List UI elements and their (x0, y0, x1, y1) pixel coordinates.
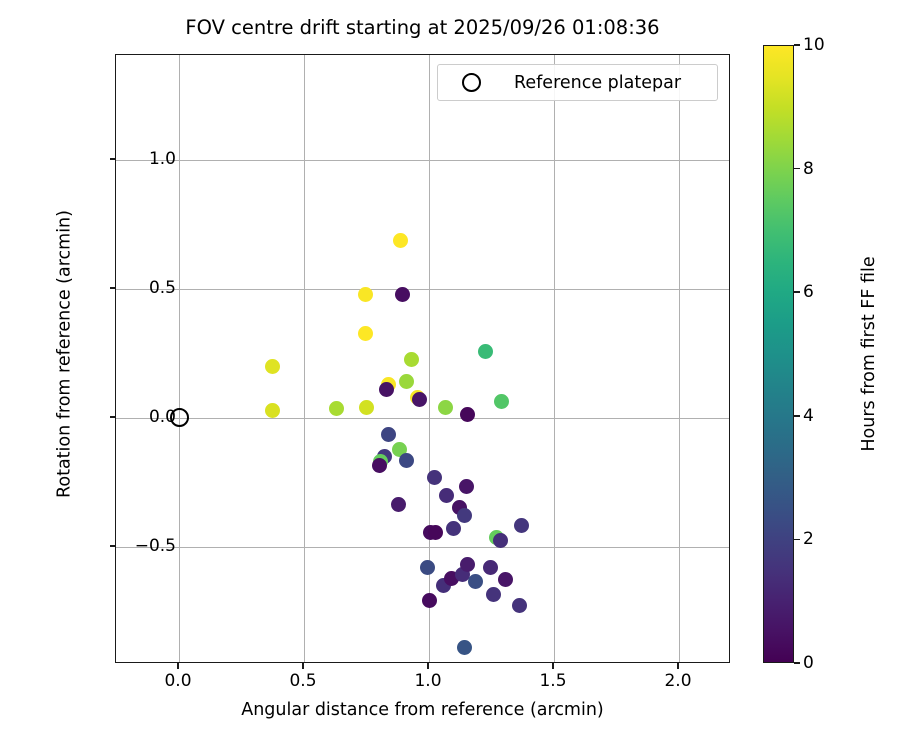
scatter-point (446, 521, 461, 536)
y-axis-tick-label: −0.5 (135, 536, 176, 556)
scatter-point (329, 401, 344, 416)
y-axis-tick-label: 0.0 (149, 407, 176, 427)
colorbar-label: Hours from first FF file (859, 45, 879, 663)
scatter-point (428, 525, 443, 540)
x-axis-tick (302, 663, 304, 669)
y-axis-tick (110, 416, 116, 418)
scatter-point (439, 488, 454, 503)
x-axis-tick (677, 663, 679, 669)
colorbar-tick-label: 8 (803, 159, 814, 179)
matplotlib-figure: FOV centre drift starting at 2025/09/26 … (0, 0, 900, 750)
scatter-point (498, 572, 513, 587)
y-axis-tick-label: 1.0 (149, 149, 176, 169)
gridline-vertical (554, 55, 555, 662)
colorbar-tick-label: 2 (803, 529, 814, 549)
scatter-point (359, 400, 374, 415)
colorbar-tick (794, 539, 800, 541)
gridline-horizontal (116, 160, 729, 161)
legend: Reference platepar (437, 64, 718, 101)
colorbar-tick (794, 291, 800, 293)
scatter-point (486, 587, 501, 602)
scatter-point (493, 533, 508, 548)
scatter-point (372, 458, 387, 473)
x-axis-tick-label: 0.5 (289, 671, 316, 691)
scatter-point (514, 518, 529, 533)
scatter-point (483, 560, 498, 575)
scatter-point (395, 287, 410, 302)
scatter-point (399, 453, 414, 468)
scatter-point (393, 233, 408, 248)
scatter-point (512, 598, 527, 613)
scatter-point (404, 352, 419, 367)
x-axis-label: Angular distance from reference (arcmin) (115, 700, 730, 720)
scatter-point (381, 427, 396, 442)
colorbar (763, 45, 794, 663)
scatter-point (427, 470, 442, 485)
x-axis-tick (427, 663, 429, 669)
scatter-point (457, 508, 472, 523)
gridline-vertical (179, 55, 180, 662)
gridline-vertical (679, 55, 680, 662)
x-axis-tick-label: 1.0 (414, 671, 441, 691)
scatter-point (265, 359, 280, 374)
colorbar-tick-label: 10 (803, 35, 825, 55)
colorbar-tick-label: 4 (803, 406, 814, 426)
colorbar-tick (794, 415, 800, 417)
colorbar-tick-label: 0 (803, 653, 814, 673)
gridline-horizontal (116, 418, 729, 419)
colorbar-tick (794, 168, 800, 170)
colorbar-tick (794, 662, 800, 664)
x-axis-tick-label: 2.0 (664, 671, 691, 691)
x-axis-tick (552, 663, 554, 669)
scatter-point (399, 374, 414, 389)
plot-area (115, 54, 730, 663)
scatter-point (438, 400, 453, 415)
reference-platepar-marker-icon (462, 73, 481, 92)
scatter-point (494, 394, 509, 409)
y-axis-tick-label: 0.5 (149, 278, 176, 298)
page-title: FOV centre drift starting at 2025/09/26 … (115, 16, 730, 40)
x-axis-tick-label: 0.0 (164, 671, 191, 691)
y-axis-label: Rotation from reference (arcmin) (55, 50, 75, 659)
gridline-horizontal (116, 289, 729, 290)
scatter-point (265, 403, 280, 418)
y-axis-tick (110, 287, 116, 289)
scatter-point (412, 392, 427, 407)
scatter-point (478, 344, 493, 359)
scatter-point (460, 407, 475, 422)
x-axis-tick-label: 1.5 (539, 671, 566, 691)
scatter-point (358, 287, 373, 302)
scatter-point (391, 497, 406, 512)
legend-entry-label: Reference platepar (514, 73, 681, 93)
gridline-horizontal (116, 547, 729, 548)
scatter-point (459, 479, 474, 494)
y-axis-tick (110, 545, 116, 547)
gridline-vertical (304, 55, 305, 662)
scatter-point (460, 557, 475, 572)
scatter-point (420, 560, 435, 575)
scatter-point (379, 382, 394, 397)
colorbar-tick (794, 44, 800, 46)
colorbar-tick-label: 6 (803, 282, 814, 302)
scatter-point (468, 574, 483, 589)
y-axis-tick (110, 158, 116, 160)
scatter-point (422, 593, 437, 608)
scatter-point (457, 640, 472, 655)
scatter-point (358, 326, 373, 341)
x-axis-tick (177, 663, 179, 669)
